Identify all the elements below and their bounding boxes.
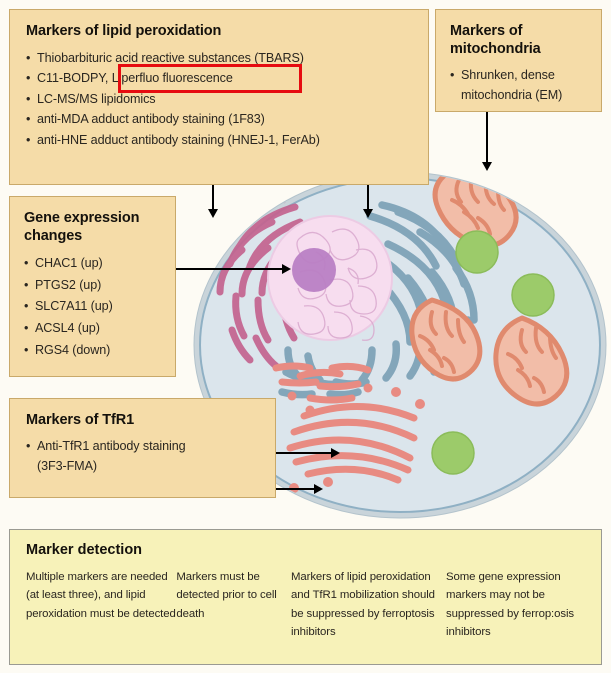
connector-gene-to-nucleolus <box>176 268 284 270</box>
callout-markers-of-mitochondria[interactable]: Markers of mitochondria Shrunken, dense … <box>435 9 602 112</box>
list-item: Anti-TfR1 antibody staining (3F3-FMA) <box>26 437 262 477</box>
list-item-line-1: Shrunken, dense <box>461 68 555 82</box>
callout-markers-of-lipid-peroxidation[interactable]: Markers of lipid peroxidation Thiobarbit… <box>9 9 429 185</box>
title-line-1: Gene expression <box>24 210 139 226</box>
detection-column: Multiple markers are needed (at least th… <box>26 568 176 642</box>
title-line-2: changes <box>24 228 82 244</box>
box-title-lipid: Markers of lipid peroxidation <box>26 23 413 41</box>
list-item-highlighted: C11-BODPY, Liperfluo fluorescence <box>26 68 413 88</box>
box-title-tfr1: Markers of TfR1 <box>26 412 262 430</box>
detection-column: Some gene expression markers may not be … <box>446 568 587 642</box>
list-item-line-1: Anti-TfR1 antibody staining <box>37 439 186 453</box>
arrowhead-down <box>482 162 492 171</box>
connector-tfr1-to-membrane <box>276 488 316 490</box>
list-item-line-2: (3F3-FMA) <box>37 457 262 477</box>
detection-column: Markers must be detected prior to cell d… <box>176 568 291 642</box>
arrowhead-right <box>314 484 323 494</box>
list-lipid-markers: Thiobarbituric acid reactive substances … <box>26 48 413 150</box>
list-item: anti-MDA adduct antibody staining (1F83) <box>26 109 413 129</box>
detection-column: Markers of lipid peroxidation and TfR1 m… <box>291 568 446 642</box>
list-mitochondria-markers: Shrunken, dense mitochondria (EM) <box>450 66 588 106</box>
list-gene-markers: CHAC1 (up) PTGS2 (up) SLC7A11 (up) ACSL4… <box>24 253 162 361</box>
detection-columns: Multiple markers are needed (at least th… <box>26 568 587 642</box>
list-item: SLC7A11 (up) <box>24 296 162 318</box>
list-item: LC-MS/MS lipidomics <box>26 89 413 109</box>
title-line-2: mitochondria <box>450 41 541 57</box>
list-item: PTGS2 (up) <box>24 275 162 297</box>
callout-gene-expression-changes[interactable]: Gene expression changes CHAC1 (up) PTGS2… <box>9 196 176 377</box>
arrowhead-down <box>208 209 218 218</box>
arrowhead-right <box>282 264 291 274</box>
list-item: ACSL4 (up) <box>24 318 162 340</box>
arrowhead-right <box>331 448 340 458</box>
connector-lipid-to-er-left <box>212 185 214 211</box>
figure-canvas: Markers of lipid peroxidation Thiobarbit… <box>0 0 611 673</box>
panel-title-marker-detection: Marker detection <box>26 542 587 558</box>
list-item: Thiobarbituric acid reactive substances … <box>26 48 413 68</box>
connector-lipid-to-er-right <box>367 185 369 211</box>
list-item: RGS4 (down) <box>24 340 162 362</box>
arrowhead-down <box>363 209 373 218</box>
list-item-line-2: mitochondria (EM) <box>461 86 588 106</box>
panel-marker-detection[interactable]: Marker detection Multiple markers are ne… <box>9 529 602 665</box>
lysosome <box>512 274 554 316</box>
list-tfr1-markers: Anti-TfR1 antibody staining (3F3-FMA) <box>26 437 262 477</box>
lysosome <box>456 231 498 273</box>
lysosome <box>432 432 474 474</box>
box-title-gene: Gene expression changes <box>24 210 162 246</box>
list-item: Shrunken, dense mitochondria (EM) <box>450 66 588 106</box>
callout-markers-of-tfr1[interactable]: Markers of TfR1 Anti-TfR1 antibody stain… <box>9 398 276 498</box>
list-item: anti-HNE adduct antibody staining (HNEJ-… <box>26 130 413 150</box>
list-item: CHAC1 (up) <box>24 253 162 275</box>
box-title-mitochondria: Markers of mitochondria <box>450 23 588 59</box>
connector-tfr1-to-golgi <box>276 452 333 454</box>
nucleolus <box>292 248 336 292</box>
connector-mito-box-to-mitochondrion <box>486 112 488 164</box>
title-line-1: Markers of <box>450 23 522 39</box>
